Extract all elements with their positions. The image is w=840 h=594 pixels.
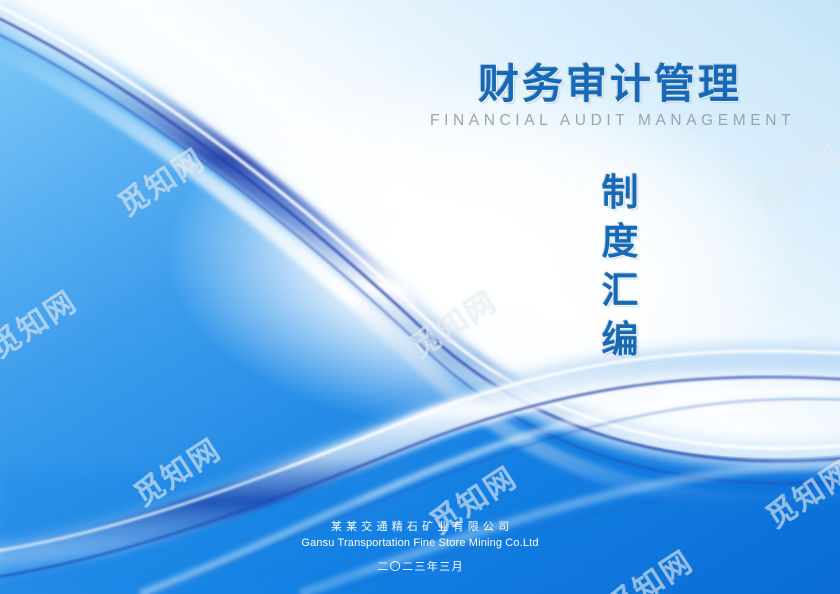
page-title: 财务审计管理 bbox=[430, 62, 790, 106]
footer: 某某交通精石矿业有限公司 Gansu Transportation Fine S… bbox=[0, 518, 840, 574]
title-block: 财务审计管理 FINANCIAL AUDIT MANAGEMENT bbox=[430, 62, 790, 130]
vertical-title: 制 度 汇 编 bbox=[588, 168, 652, 364]
page-subtitle: FINANCIAL AUDIT MANAGEMENT bbox=[430, 112, 790, 130]
book-cover: 觅知网 觅知网 觅知网 觅知网 觅知网 觅知网 觅知网 觅知网 财务审计管理 F… bbox=[0, 0, 840, 594]
publication-date: 二〇二三年三月 bbox=[0, 558, 840, 574]
vertical-title-char: 度 bbox=[588, 217, 652, 266]
vertical-title-char: 制 bbox=[588, 168, 652, 217]
vertical-title-char: 汇 bbox=[588, 266, 652, 315]
vertical-title-char: 编 bbox=[588, 315, 652, 364]
company-name-cn: 某某交通精石矿业有限公司 bbox=[0, 518, 840, 534]
company-name-en: Gansu Transportation Fine Store Mining C… bbox=[0, 537, 840, 549]
